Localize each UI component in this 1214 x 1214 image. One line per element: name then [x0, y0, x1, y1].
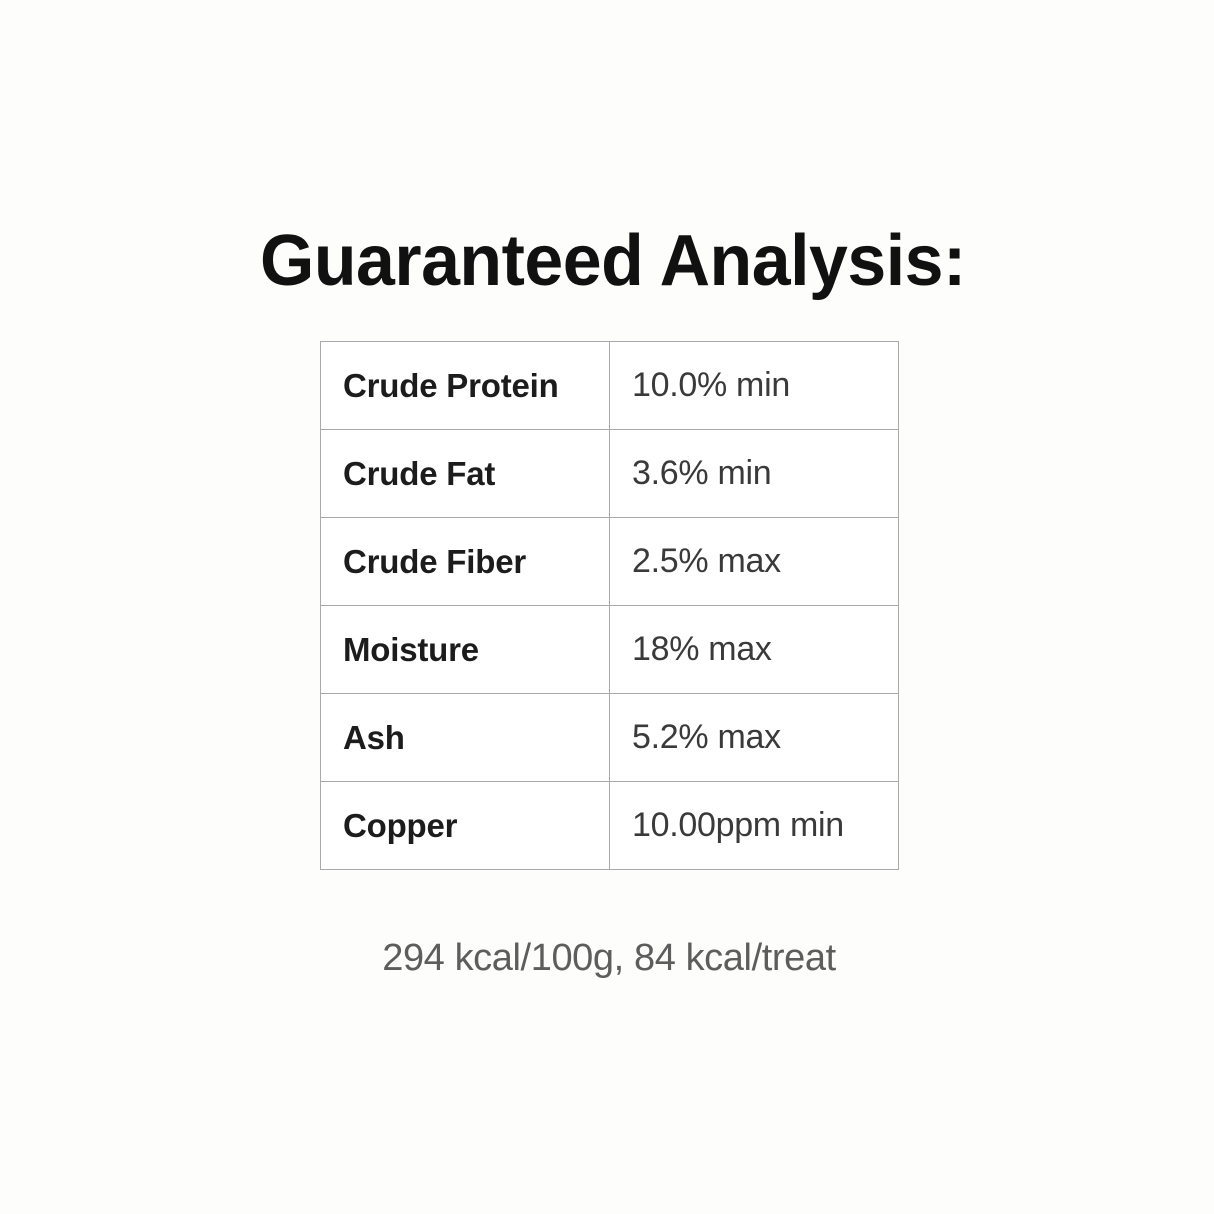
table-row: Moisture 18% max: [321, 606, 899, 694]
nutrient-value-cell: 2.5% max: [610, 518, 899, 606]
nutrient-value-cell: 10.0% min: [610, 342, 899, 430]
nutrient-label-cell: Crude Fiber: [321, 518, 610, 606]
nutrient-label-cell: Ash: [321, 694, 610, 782]
nutrient-value-cell: 18% max: [610, 606, 899, 694]
page-title: Guaranteed Analysis:: [260, 222, 939, 300]
table-row: Copper 10.00ppm min: [321, 782, 899, 870]
table-body: Crude Protein 10.0% min Crude Fat 3.6% m…: [321, 342, 899, 870]
guaranteed-analysis-table: Crude Protein 10.0% min Crude Fat 3.6% m…: [320, 341, 899, 870]
nutrient-value-cell: 10.00ppm min: [610, 782, 899, 870]
table-row: Crude Protein 10.0% min: [321, 342, 899, 430]
nutrient-label-cell: Crude Protein: [321, 342, 610, 430]
nutrient-label-cell: Copper: [321, 782, 610, 870]
nutrient-label-cell: Moisture: [321, 606, 610, 694]
nutrient-value-cell: 5.2% max: [610, 694, 899, 782]
nutrient-label-cell: Crude Fat: [321, 430, 610, 518]
table-row: Ash 5.2% max: [321, 694, 899, 782]
table-row: Crude Fat 3.6% min: [321, 430, 899, 518]
nutrition-panel: Guaranteed Analysis: Crude Protein 10.0%…: [0, 0, 1214, 1214]
table-row: Crude Fiber 2.5% max: [321, 518, 899, 606]
calorie-content-note: 294 kcal/100g, 84 kcal/treat: [320, 934, 898, 982]
nutrient-value-cell: 3.6% min: [610, 430, 899, 518]
guaranteed-analysis-table-wrapper: Crude Protein 10.0% min Crude Fat 3.6% m…: [320, 341, 898, 870]
